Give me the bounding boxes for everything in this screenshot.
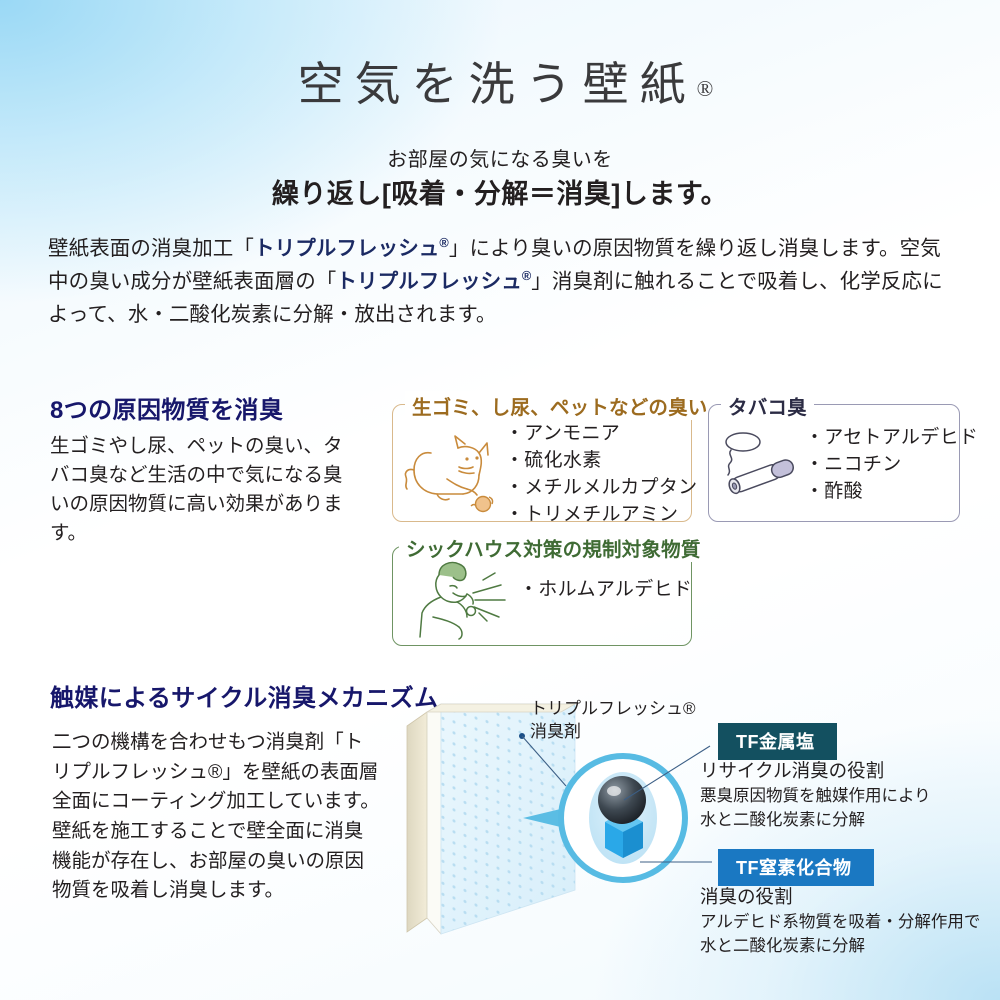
subtitle-line-1: お部屋の気になる臭いを [0, 143, 1000, 172]
callout-desc-line-1: アルデヒド系物質を吸着・分解作用で [700, 911, 980, 935]
brand-name-1-text: トリプルフレッシュ [254, 237, 439, 260]
brand-name-2: トリプルフレッシュ® [336, 270, 531, 293]
callout-tf-nitrogen-compound-text: 消臭の役割 アルデヒド系物質を吸着・分解作用で 水と二酸化炭素に分解 [700, 884, 980, 959]
section-2-body: 二つの機構を合わせもつ消臭剤「トリプルフレッシュ®」を壁紙の表面層全面にコーティ… [52, 728, 382, 906]
cigarette-icon [715, 429, 807, 499]
callout-role: リサイクル消臭の役割 [700, 758, 931, 785]
odor-box-tobacco: タバコ臭 ・アセトアルデヒド ・ニコチン ・酢酸 [708, 404, 960, 522]
odor-box-sick-house-items: ・ホルムアルデヒド [519, 577, 692, 604]
coating-label: トリプルフレッシュ® 消臭剤 [530, 698, 696, 744]
subtitle-line-2: 繰り返し[吸着・分解＝消臭]します。 [0, 172, 1000, 211]
cat-icon [401, 427, 505, 513]
page-title: 空気を洗う壁紙® [0, 48, 1000, 114]
registered-mark-icon: ® [522, 268, 531, 283]
list-item: ・アンモニア [505, 421, 697, 448]
section-2-heading: 触媒によるサイクル消臭メカニズム [50, 678, 438, 713]
callout-desc-line-2: 水と二酸化炭素に分解 [700, 809, 931, 833]
list-item: ・アセトアルデヒド [805, 425, 978, 452]
badge-tf-metal-salt: TF金属塩 [718, 723, 837, 760]
intro-paragraph: 壁紙表面の消臭加工「トリプルフレッシュ®」により臭いの原因物質を繰り返し消臭しま… [48, 232, 954, 332]
page-title-text: 空気を洗う壁紙 [298, 59, 697, 110]
brand-name-2-text: トリプルフレッシュ [336, 270, 521, 293]
list-item: ・硫化水素 [505, 448, 697, 475]
odor-box-tobacco-legend: タバコ臭 [721, 391, 814, 420]
odor-box-tobacco-items: ・アセトアルデヒド ・ニコチン ・酢酸 [805, 425, 978, 506]
registered-mark-icon: ® [439, 235, 448, 250]
odor-box-waste: 生ゴミ、し尿、ペットなどの臭い ・アンモニア [392, 404, 692, 522]
intro-part-1: 壁紙表面の消臭加工「 [48, 237, 254, 260]
list-item: ・酢酸 [805, 479, 978, 506]
list-item: ・メチルメルカプタン [505, 475, 697, 502]
list-item: ・ホルムアルデヒド [519, 577, 692, 604]
registered-mark-icon: ® [697, 76, 714, 101]
odor-box-waste-items: ・アンモニア ・硫化水素 ・メチルメルカプタン ・トリメチルアミン [505, 421, 697, 529]
infographic-page: 空気を洗う壁紙® お部屋の気になる臭いを 繰り返し[吸着・分解＝消臭]します。 … [0, 0, 1000, 1000]
list-item: ・ニコチン [805, 452, 978, 479]
coughing-person-icon [409, 555, 519, 641]
callout-desc-line-2: 水と二酸化炭素に分解 [700, 935, 980, 959]
badge-tf-nitrogen-compound: TF窒素化合物 [718, 849, 874, 886]
callout-tf-metal-salt-text: リサイクル消臭の役割 悪臭原因物質を触媒作用により 水と二酸化炭素に分解 [700, 758, 931, 833]
section-1-heading: 8つの原因物質を消臭 [50, 390, 283, 425]
odor-box-sick-house: シックハウス対策の規制対象物質 ・ホルムアルデヒド [392, 546, 692, 646]
odor-box-waste-legend: 生ゴミ、し尿、ペットなどの臭い [405, 391, 715, 420]
callout-role: 消臭の役割 [700, 884, 980, 911]
callout-desc-line-1: 悪臭原因物質を触媒作用により [700, 785, 931, 809]
section-1-body: 生ゴミやし尿、ペットの臭い、タバコ臭など生活の中で気になる臭いの原因物質に高い効… [50, 432, 350, 547]
list-item: ・トリメチルアミン [505, 502, 697, 529]
coating-label-line-2: 消臭剤 [530, 721, 696, 744]
coating-label-line-1: トリプルフレッシュ® [530, 698, 696, 721]
brand-name-1: トリプルフレッシュ® [254, 237, 449, 260]
